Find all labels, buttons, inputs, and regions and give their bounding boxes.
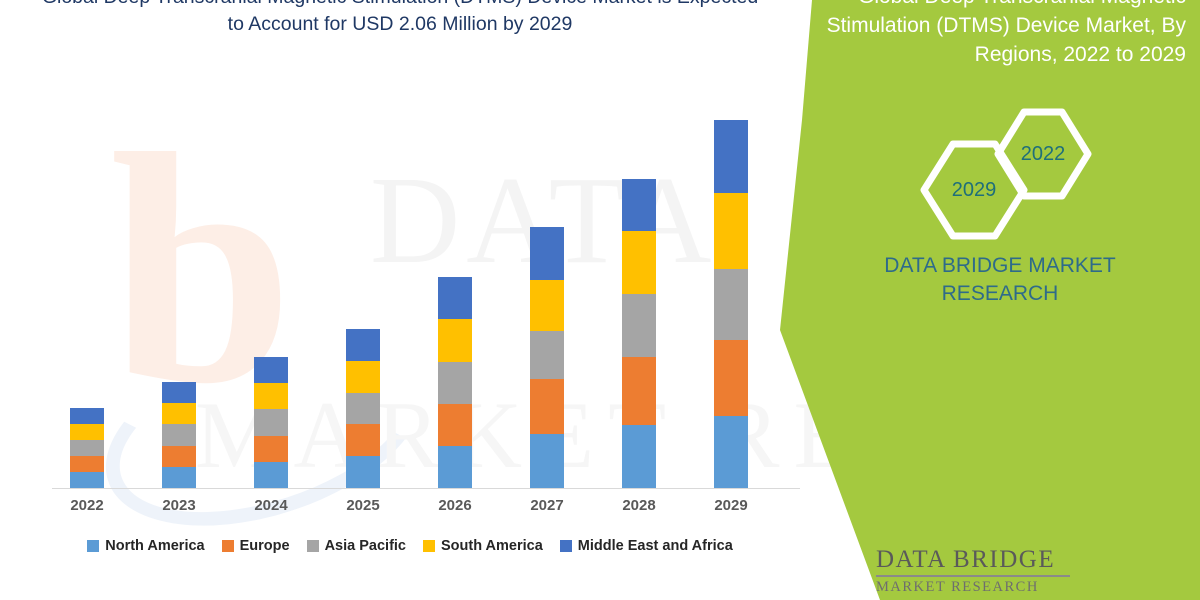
x-axis-tick-2023: 2023 [149,497,209,514]
bar-segment[interactable] [254,409,288,435]
bar-segment[interactable] [254,462,288,488]
x-axis-tick-2027: 2027 [517,497,577,514]
bar-segment[interactable] [530,379,564,434]
x-axis-tick-2029: 2029 [701,497,761,514]
bar-segment[interactable] [162,424,196,445]
bar-column-2022[interactable] [70,408,104,488]
legend-item[interactable]: South America [423,538,543,554]
bar-segment[interactable] [714,416,748,488]
bar-segment[interactable] [162,467,196,488]
bar-segment[interactable] [70,456,104,472]
plot-area [60,120,800,488]
bar-segment[interactable] [438,319,472,361]
bar-segment[interactable] [254,383,288,409]
legend-label: North America [105,538,204,554]
legend-label: South America [441,538,543,554]
x-axis-tick-2028: 2028 [609,497,669,514]
bar-segment[interactable] [714,193,748,269]
bar-column-2029[interactable] [714,120,748,488]
legend-swatch-icon [222,540,234,552]
bar-segment[interactable] [346,393,380,425]
bar-segment[interactable] [622,294,656,357]
bar-column-2026[interactable] [438,277,472,488]
bar-segment[interactable] [70,408,104,424]
bar-segment[interactable] [162,446,196,467]
chart-legend: North AmericaEuropeAsia PacificSouth Ame… [0,538,820,554]
bar-column-2028[interactable] [622,179,656,488]
legend-swatch-icon [560,540,572,552]
green-info-panel: Global Deep Transcranial Magnetic Stimul… [780,0,1200,600]
bar-column-2027[interactable] [530,227,564,488]
brand-name-text: DATA BRIDGE MARKET RESEARCH [830,252,1170,308]
bar-segment[interactable] [714,340,748,416]
bar-segment[interactable] [162,403,196,424]
x-axis-tick-2022: 2022 [57,497,117,514]
bar-segment[interactable] [162,382,196,403]
chart-title: Global Deep Transcranial Magnetic Stimul… [40,0,760,38]
bar-column-2024[interactable] [254,357,288,488]
hexagon-badge-start-year: 2022 [994,108,1092,200]
x-axis-tick-2026: 2026 [425,497,485,514]
bar-column-2023[interactable] [162,382,196,488]
bar-segment[interactable] [254,357,288,383]
legend-item[interactable]: Europe [222,538,290,554]
bar-segment[interactable] [714,269,748,340]
bar-segment[interactable] [70,472,104,488]
legend-item[interactable]: Asia Pacific [307,538,406,554]
legend-swatch-icon [87,540,99,552]
bar-segment[interactable] [622,231,656,294]
bar-segment[interactable] [70,424,104,440]
hexagon-start-year-label: 2022 [1021,143,1066,166]
bar-segment[interactable] [622,357,656,425]
legend-label: Middle East and Africa [578,538,733,554]
company-logo: DATA BRIDGE MARKET RESEARCH [798,532,1108,600]
bar-segment[interactable] [438,362,472,404]
legend-swatch-icon [423,540,435,552]
legend-label: Asia Pacific [325,538,406,554]
bar-segment[interactable] [346,329,380,361]
bar-segment[interactable] [438,404,472,446]
bar-segment[interactable] [530,331,564,379]
legend-item[interactable]: North America [87,538,204,554]
bar-segment[interactable] [254,436,288,462]
bar-segment[interactable] [622,179,656,231]
bar-segment[interactable] [530,434,564,488]
bar-segment[interactable] [70,440,104,456]
x-axis-tick-2025: 2025 [333,497,393,514]
hexagon-end-year-label: 2029 [952,179,997,202]
legend-label: Europe [240,538,290,554]
bar-segment[interactable] [438,277,472,319]
logo-tagline: MARKET RESEARCH [876,579,1070,596]
bar-segment[interactable] [530,280,564,331]
bar-segment[interactable] [622,425,656,488]
bar-segment[interactable] [438,446,472,488]
x-axis-labels: 20222023202420252026202720282029 [60,497,800,523]
bar-segment[interactable] [714,120,748,193]
bar-segment[interactable] [346,424,380,456]
x-axis-tick-2024: 2024 [241,497,301,514]
chart-panel: Global Deep Transcranial Magnetic Stimul… [0,0,830,600]
logo-wordmark: DATA BRIDGE MARKET RESEARCH [876,546,1070,596]
x-axis-line [52,488,800,489]
bar-segment[interactable] [530,227,564,280]
bar-segment[interactable] [346,456,380,488]
logo-divider [876,575,1070,577]
bar-segment[interactable] [346,361,380,393]
legend-swatch-icon [307,540,319,552]
bar-column-2025[interactable] [346,329,380,488]
panel-title: Global Deep Transcranial Magnetic Stimul… [806,0,1186,69]
logo-company-name: DATA BRIDGE [876,546,1070,574]
legend-item[interactable]: Middle East and Africa [560,538,733,554]
